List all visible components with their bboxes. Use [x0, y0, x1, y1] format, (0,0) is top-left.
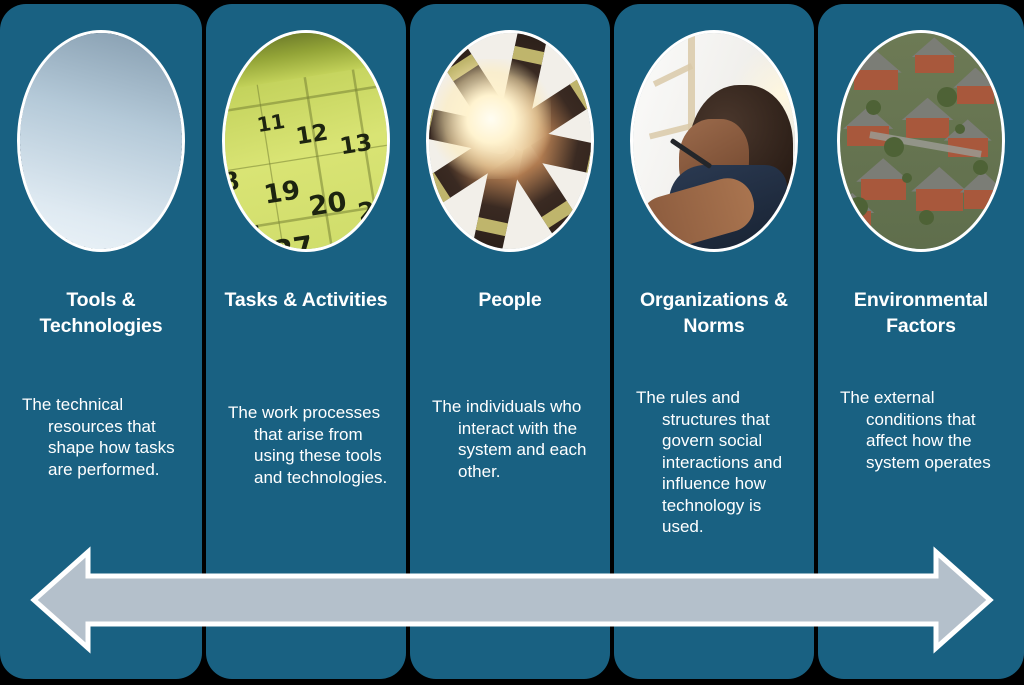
microchip-photo	[17, 30, 185, 252]
column-description: The individuals who interact with the sy…	[410, 396, 610, 482]
column-description: The work processes that arise from using…	[206, 402, 406, 488]
column-title: People	[416, 288, 604, 314]
column-title: Tasks & Activities	[212, 288, 400, 314]
column-title: Tools & Technologies	[6, 288, 196, 339]
diagram-canvas: Tools & Technologies The technical resou…	[0, 0, 1024, 685]
calendar-photo: 1112138192022627	[222, 30, 390, 252]
column-title: Organizations & Norms	[620, 288, 808, 339]
joined-hands-photo	[426, 30, 594, 252]
column-description: The technical resources that shape how t…	[0, 394, 202, 480]
double-headed-arrow	[30, 546, 994, 654]
column-description: The rules and structures that govern soc…	[614, 387, 814, 538]
column-description: The external conditions that affect how …	[818, 387, 1024, 473]
column-title: Environmental Factors	[824, 288, 1018, 339]
woman-writing-whiteboard-photo	[630, 30, 798, 252]
housing-estate-photo	[837, 30, 1005, 252]
